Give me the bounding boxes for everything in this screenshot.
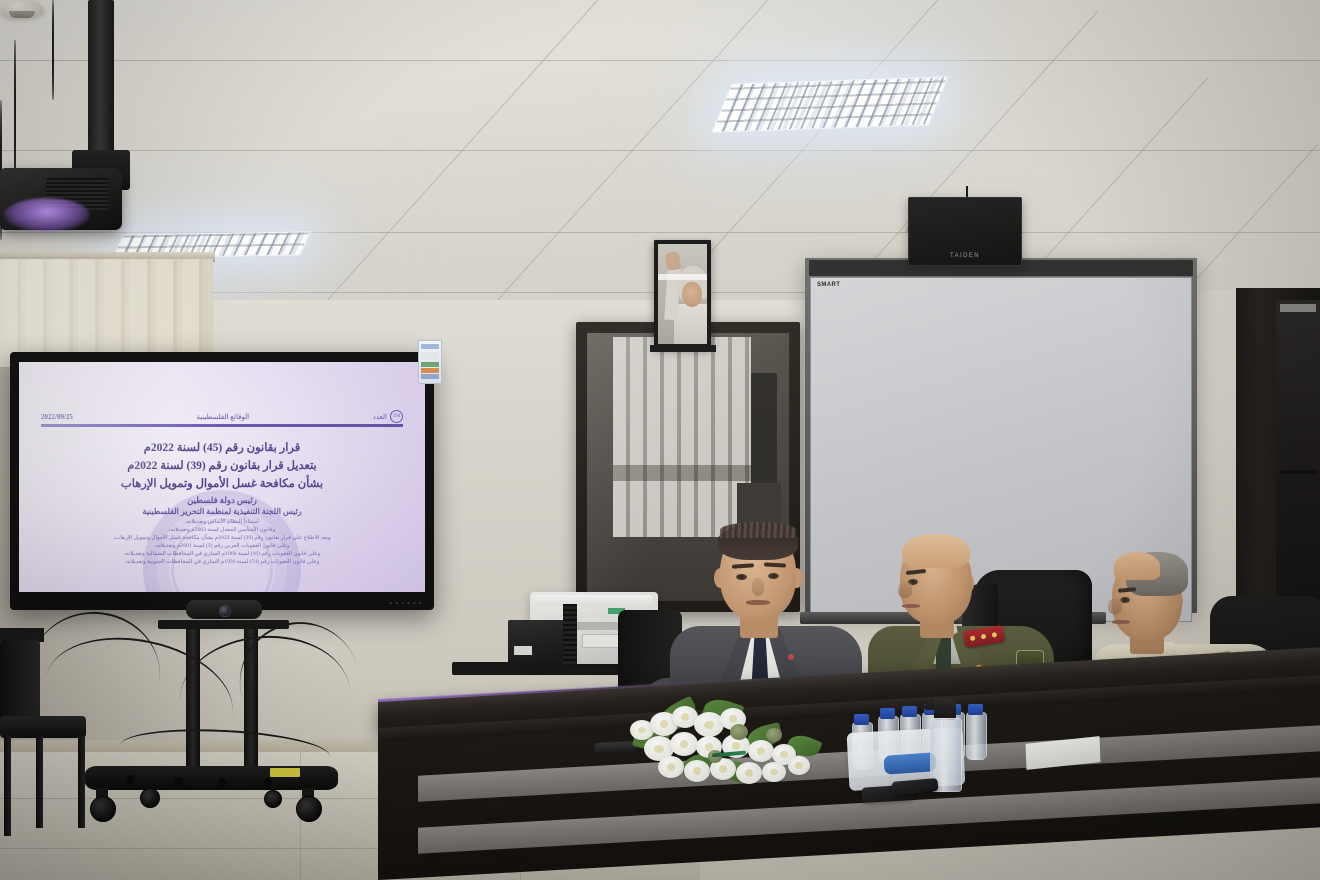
arafat-portrait (654, 240, 711, 348)
chair-leg (36, 736, 43, 828)
bottle-cap (854, 714, 869, 725)
bottle-cap (968, 704, 983, 715)
vertical-blinds[interactable] (0, 259, 213, 367)
gazette-document: 194 العدد الوقائع الفلسطينية 2022/09/25 … (19, 362, 425, 592)
mouth (1112, 620, 1130, 624)
sanitizer-pump[interactable] (934, 698, 956, 720)
chair-leg (78, 736, 85, 828)
nose (752, 578, 764, 596)
bottle-cap (902, 706, 917, 717)
eye (736, 574, 747, 580)
document-header: 194 العدد الوقائع الفلسطينية 2022/09/25 (41, 410, 403, 423)
bag-blue-label (883, 752, 936, 775)
bottle-cap (880, 708, 895, 719)
signature-line-2: رئيس اللجنة التنفيذية لمنظمة التحرير الف… (45, 506, 399, 517)
lapel-pin (788, 654, 794, 660)
document-title: قرار بقانون رقم (45) لسنة 2022م بتعديل ق… (43, 440, 401, 493)
header-rule (41, 424, 403, 427)
chair-leg (4, 736, 11, 836)
title-line-2: بتعديل قرار بقانون رقم (39) لسنة 2022م (43, 458, 401, 476)
head-top (902, 534, 970, 568)
presentation-display[interactable]: 194 العدد الوقائع الفلسطينية 2022/09/25 … (10, 352, 434, 610)
cart-caster (296, 796, 322, 822)
issue-number: 194 (390, 410, 403, 423)
projector-cable (52, 0, 54, 100)
nose (898, 582, 912, 598)
wall-speaker: TAIDEN (908, 197, 1022, 266)
speaker-brand-label: TAIDEN (950, 253, 980, 259)
display-screen[interactable]: 194 العدد الوقائع الفلسطينية 2022/09/25 … (19, 362, 425, 592)
cart-caster (140, 788, 160, 808)
document-date: 2022/09/25 (41, 413, 73, 421)
water-bottle[interactable] (966, 712, 987, 760)
display-brand-mark: ▪ ▪ ▪ ▪ ▪ ▪ (390, 601, 422, 607)
cart-caster (264, 790, 282, 808)
body-line-6: وعلى قانون العقوبات رقم (74) لسنة 1936م … (45, 559, 399, 567)
issue-label: العدد (373, 413, 387, 421)
equipment-heatsink (563, 604, 577, 664)
gazette-name: الوقائع الفلسطينية (197, 413, 250, 421)
av-equipment-box (508, 620, 566, 666)
cart-caster (90, 796, 116, 822)
mouth (746, 600, 770, 605)
body-line-5: وعلى قانون العقوبات رقم (16) لسنة 1960م … (45, 551, 399, 559)
issue-number-group: 194 العدد (373, 410, 403, 423)
wall-notice-card (418, 340, 442, 384)
document-body: رئيس دولة فلسطين رئيس اللجنة التنفيذية ل… (45, 494, 399, 567)
signature-line-1: رئيس دولة فلسطين (45, 494, 399, 506)
cart-shelf (158, 620, 289, 629)
smart-logo: SMART (817, 282, 840, 288)
forehead (1114, 552, 1160, 580)
video-conference-camera (186, 600, 262, 619)
smoke-detector-icon (0, 0, 44, 17)
equipment-label (514, 646, 532, 655)
left-chair-seat (0, 716, 86, 738)
right-door-rail (1280, 470, 1318, 474)
body-line-4: وعلى قانون العقوبات العربي رقم (3) لسنة … (45, 543, 399, 551)
hair-highlight (720, 522, 796, 538)
title-line-1: قرار بقانون رقم (45) لسنة 2022م (43, 440, 401, 458)
projector-mount (88, 0, 114, 175)
flower-arrangement (622, 700, 858, 790)
projector-lens-glow (4, 198, 90, 232)
mouth (902, 604, 920, 608)
eye (768, 573, 779, 579)
conference-room-photo: SMART TAIDEN 194 العدد الوقائع الفلسطيني… (0, 0, 1320, 880)
portrait-ledge (650, 345, 716, 352)
nose (1108, 598, 1122, 614)
ceiling-light-panel (711, 76, 948, 132)
